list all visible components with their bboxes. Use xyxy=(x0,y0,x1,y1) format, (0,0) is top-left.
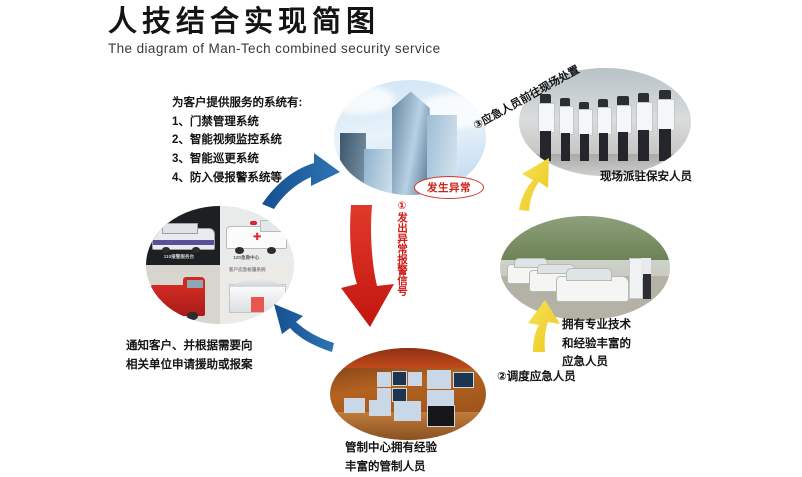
status-badge-abnormal: 发生异常 xyxy=(414,176,484,199)
caption-notify-client: 通知客户、并根据需要向 相关单位申请援助或报案 xyxy=(126,337,291,374)
arrow-red-alarm-signal xyxy=(341,205,394,327)
caption-responders: 拥有专业技术 和经验丰富的 应急人员 xyxy=(562,316,662,372)
systems-list: 为客户提供服务的系统有: 1、门禁管理系统 2、智能视频监控系统 3、智能巡更系… xyxy=(172,94,347,187)
caption-control-room: 管制中心拥有经验 丰富的管制人员 xyxy=(345,439,485,476)
caption-guards: 现场派驻保安人员 xyxy=(600,169,692,187)
step-1-label: ①发出异常报警信号 xyxy=(391,200,407,296)
arrow-yellow-to-guards xyxy=(519,158,549,211)
arrow-yellow-dispatch xyxy=(528,300,560,352)
